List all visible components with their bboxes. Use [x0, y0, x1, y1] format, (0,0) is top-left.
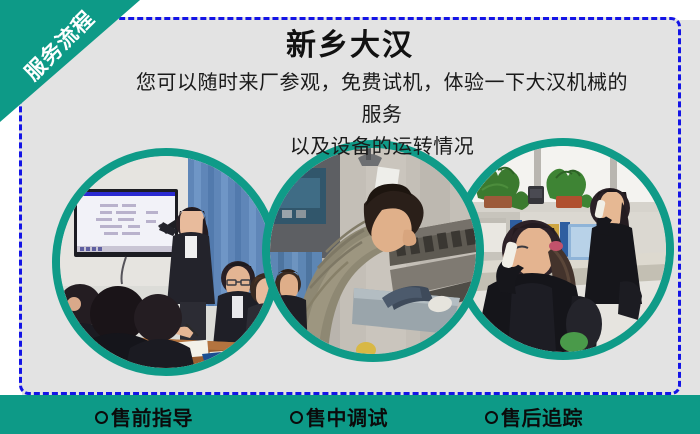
promo-banner: 服务流程 新乡大汉 您可以随时来厂参观，免费试机，体验一下大汉机械的服务 以及设…: [0, 0, 700, 434]
bottom-item-in-sales[interactable]: 售中调试: [290, 402, 388, 431]
training-meeting-illustration: [60, 156, 272, 368]
subtitle-block: 您可以随时来厂参观，免费试机，体验一下大汉机械的服务 以及设备的运转情况: [65, 66, 635, 162]
bottom-item-after-sales[interactable]: 售后追踪: [485, 402, 583, 431]
photo-office-phone: [460, 146, 666, 352]
photo-circle-training-meeting[interactable]: [52, 148, 280, 376]
bottom-item-label: 售后追踪: [501, 406, 583, 430]
bottom-item-pre-sales[interactable]: 售前指导: [95, 402, 193, 431]
bottom-service-bar: 售前指导 售中调试 售后追踪: [0, 395, 700, 434]
subtitle-line-1: 您可以随时来厂参观，免费试机，体验一下大汉机械的服务: [129, 66, 635, 130]
circle-bullet-icon: [485, 411, 498, 424]
circle-bullet-icon: [290, 411, 303, 424]
photo-machine-operation: [270, 148, 476, 354]
circle-bullet-icon: [95, 411, 108, 424]
photo-circle-office-phone[interactable]: [452, 138, 674, 360]
bottom-item-label: 售前指导: [111, 406, 193, 430]
corner-ribbon: 服务流程: [0, 0, 140, 122]
bottom-item-label: 售中调试: [306, 406, 388, 430]
machine-operation-illustration: [270, 148, 476, 354]
photo-circle-machine-operation[interactable]: [262, 140, 484, 362]
subtitle-line-2: 以及设备的运转情况: [129, 130, 635, 162]
office-phone-illustration: [460, 146, 666, 352]
photo-training-meeting: [60, 156, 272, 368]
